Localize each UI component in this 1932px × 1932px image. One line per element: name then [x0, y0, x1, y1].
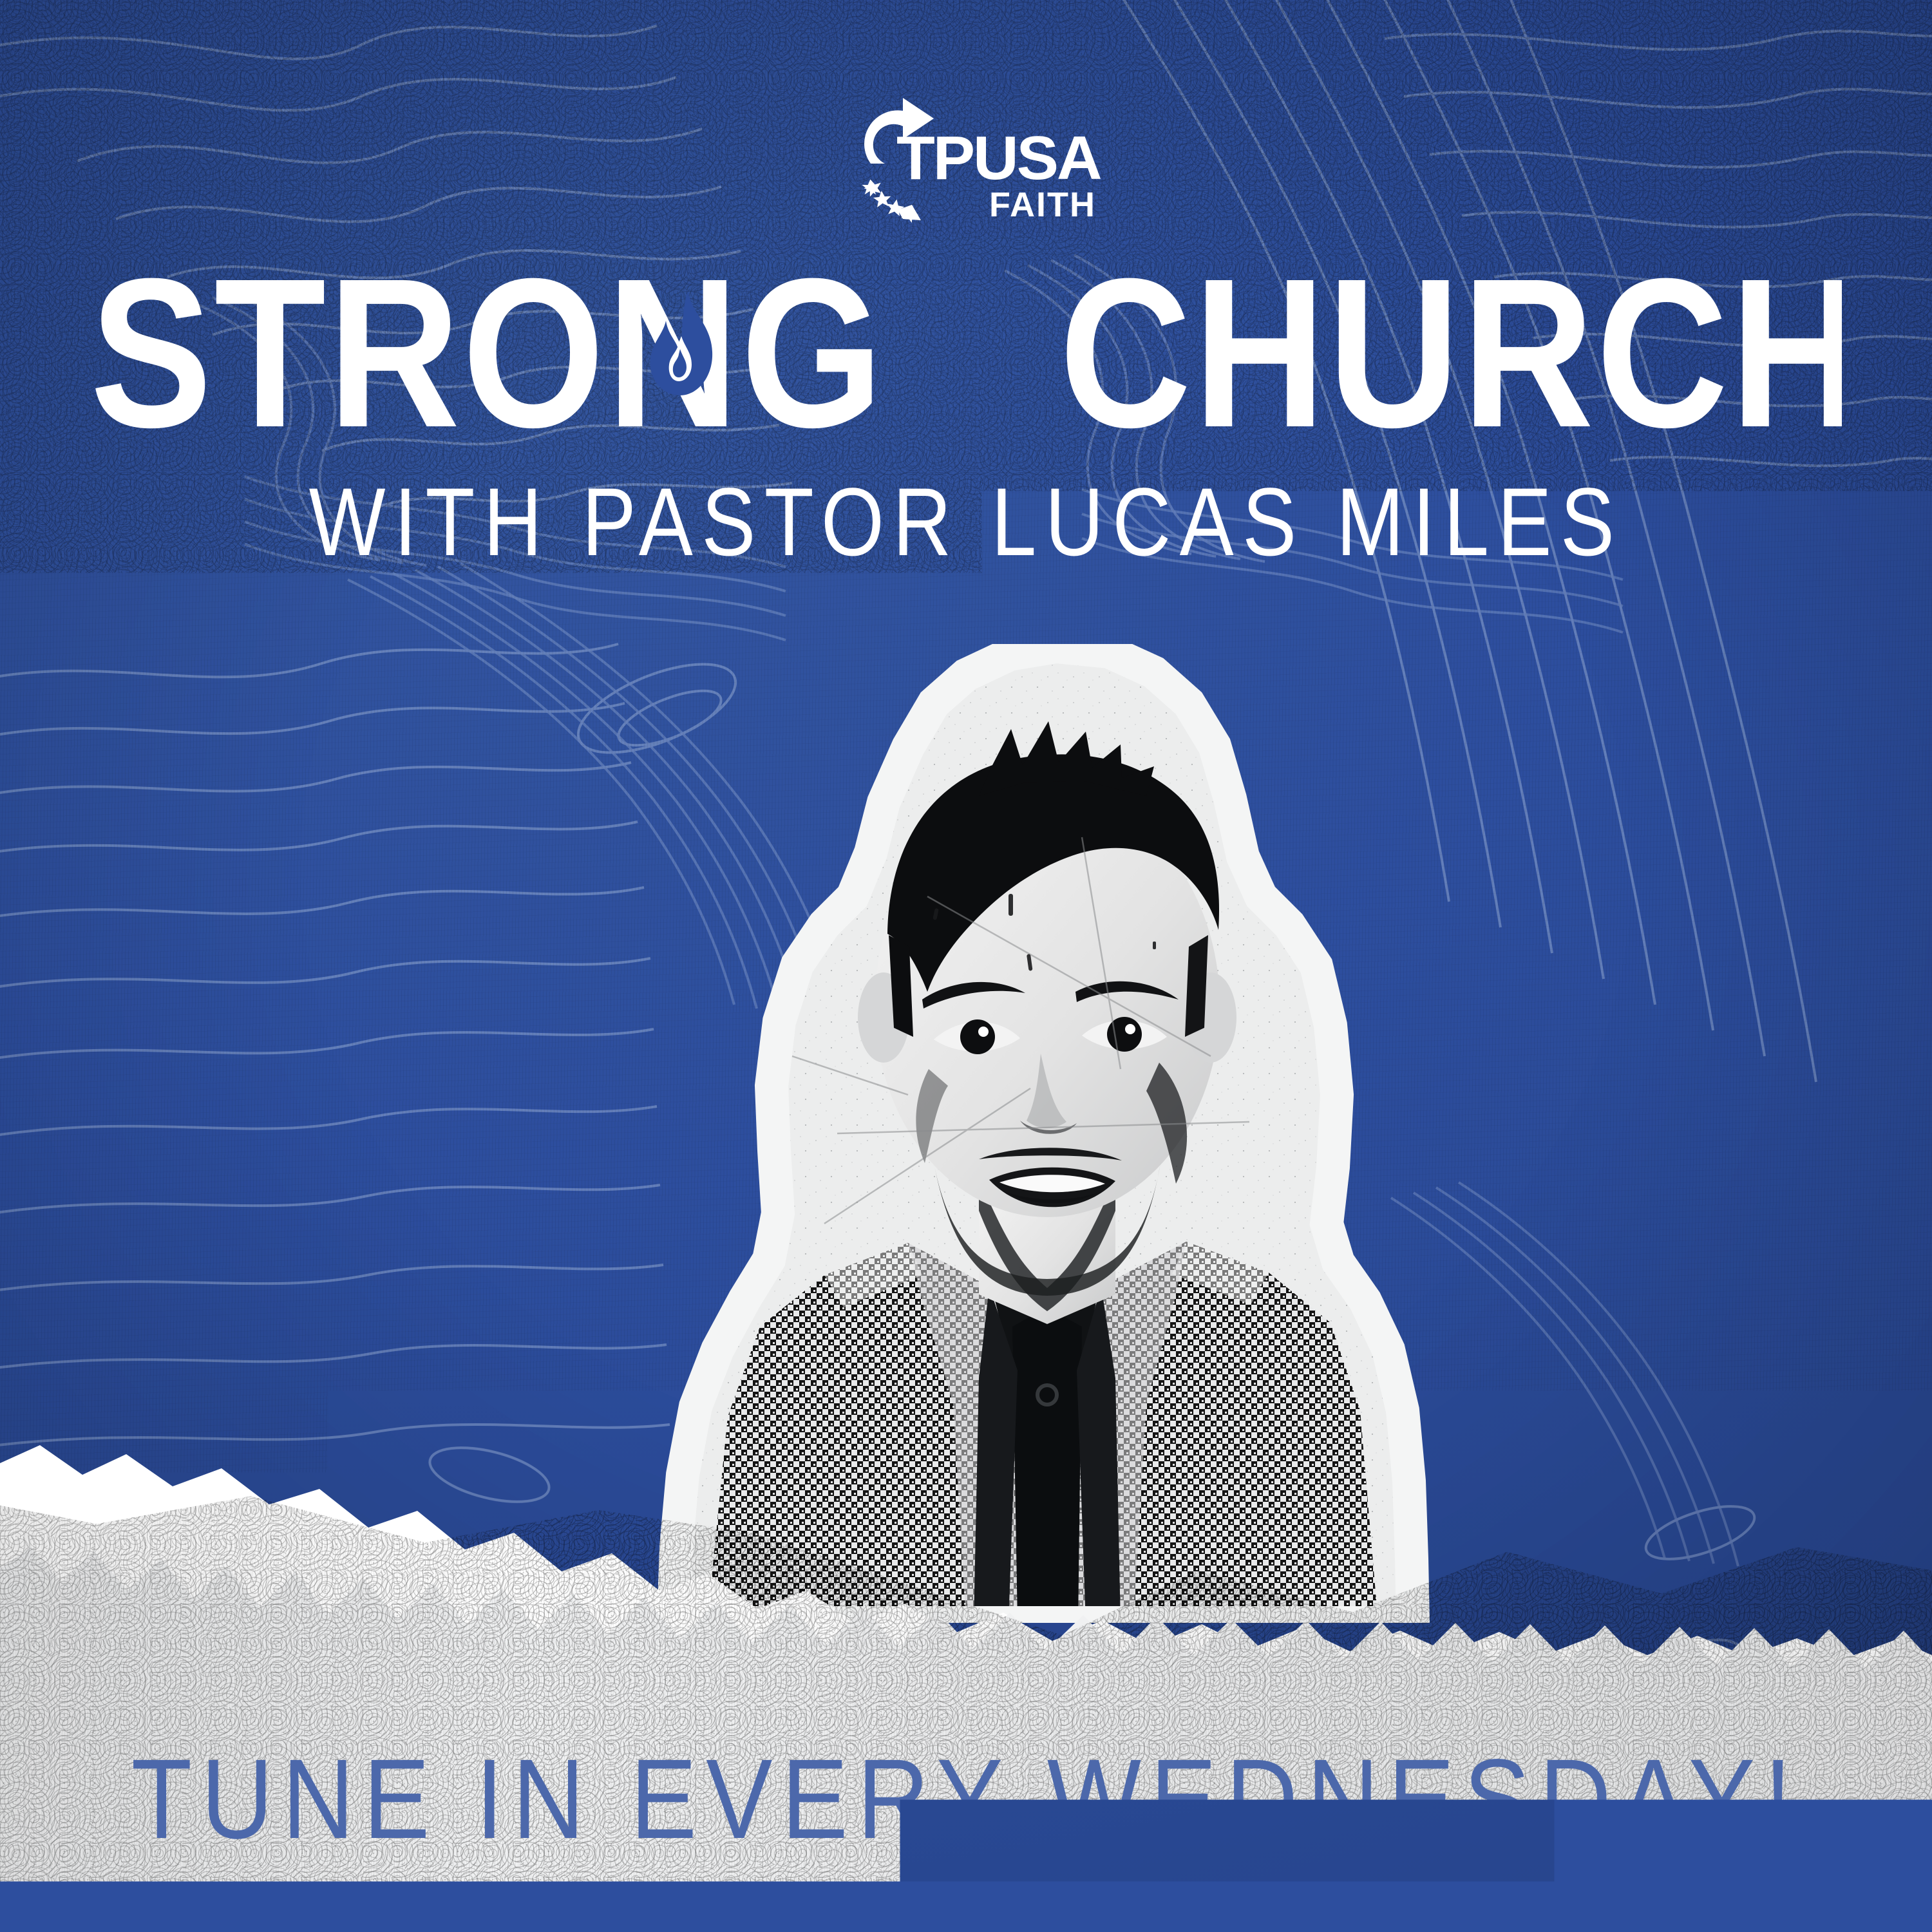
show-subtitle: WITH PASTOR LUCAS MILES	[155, 473, 1777, 570]
show-title: STRONG CHURCH	[0, 258, 1932, 451]
tpusa-faith-logo: TPUSA FAITH	[831, 97, 1101, 238]
logo-wordmark: TPUSA	[896, 123, 1101, 193]
tune-in-cta-text: TUNE IN EVERY WEDNESDAY!	[116, 1743, 1816, 1856]
title-word-church: CHURCH	[1059, 258, 1842, 451]
podcast-cover-poster: TPUSA FAITH STRONG CHURCH	[0, 0, 1932, 1932]
title-word-strong: STRONG	[90, 258, 885, 451]
logo-sub-wordmark: FAITH	[989, 185, 1096, 224]
